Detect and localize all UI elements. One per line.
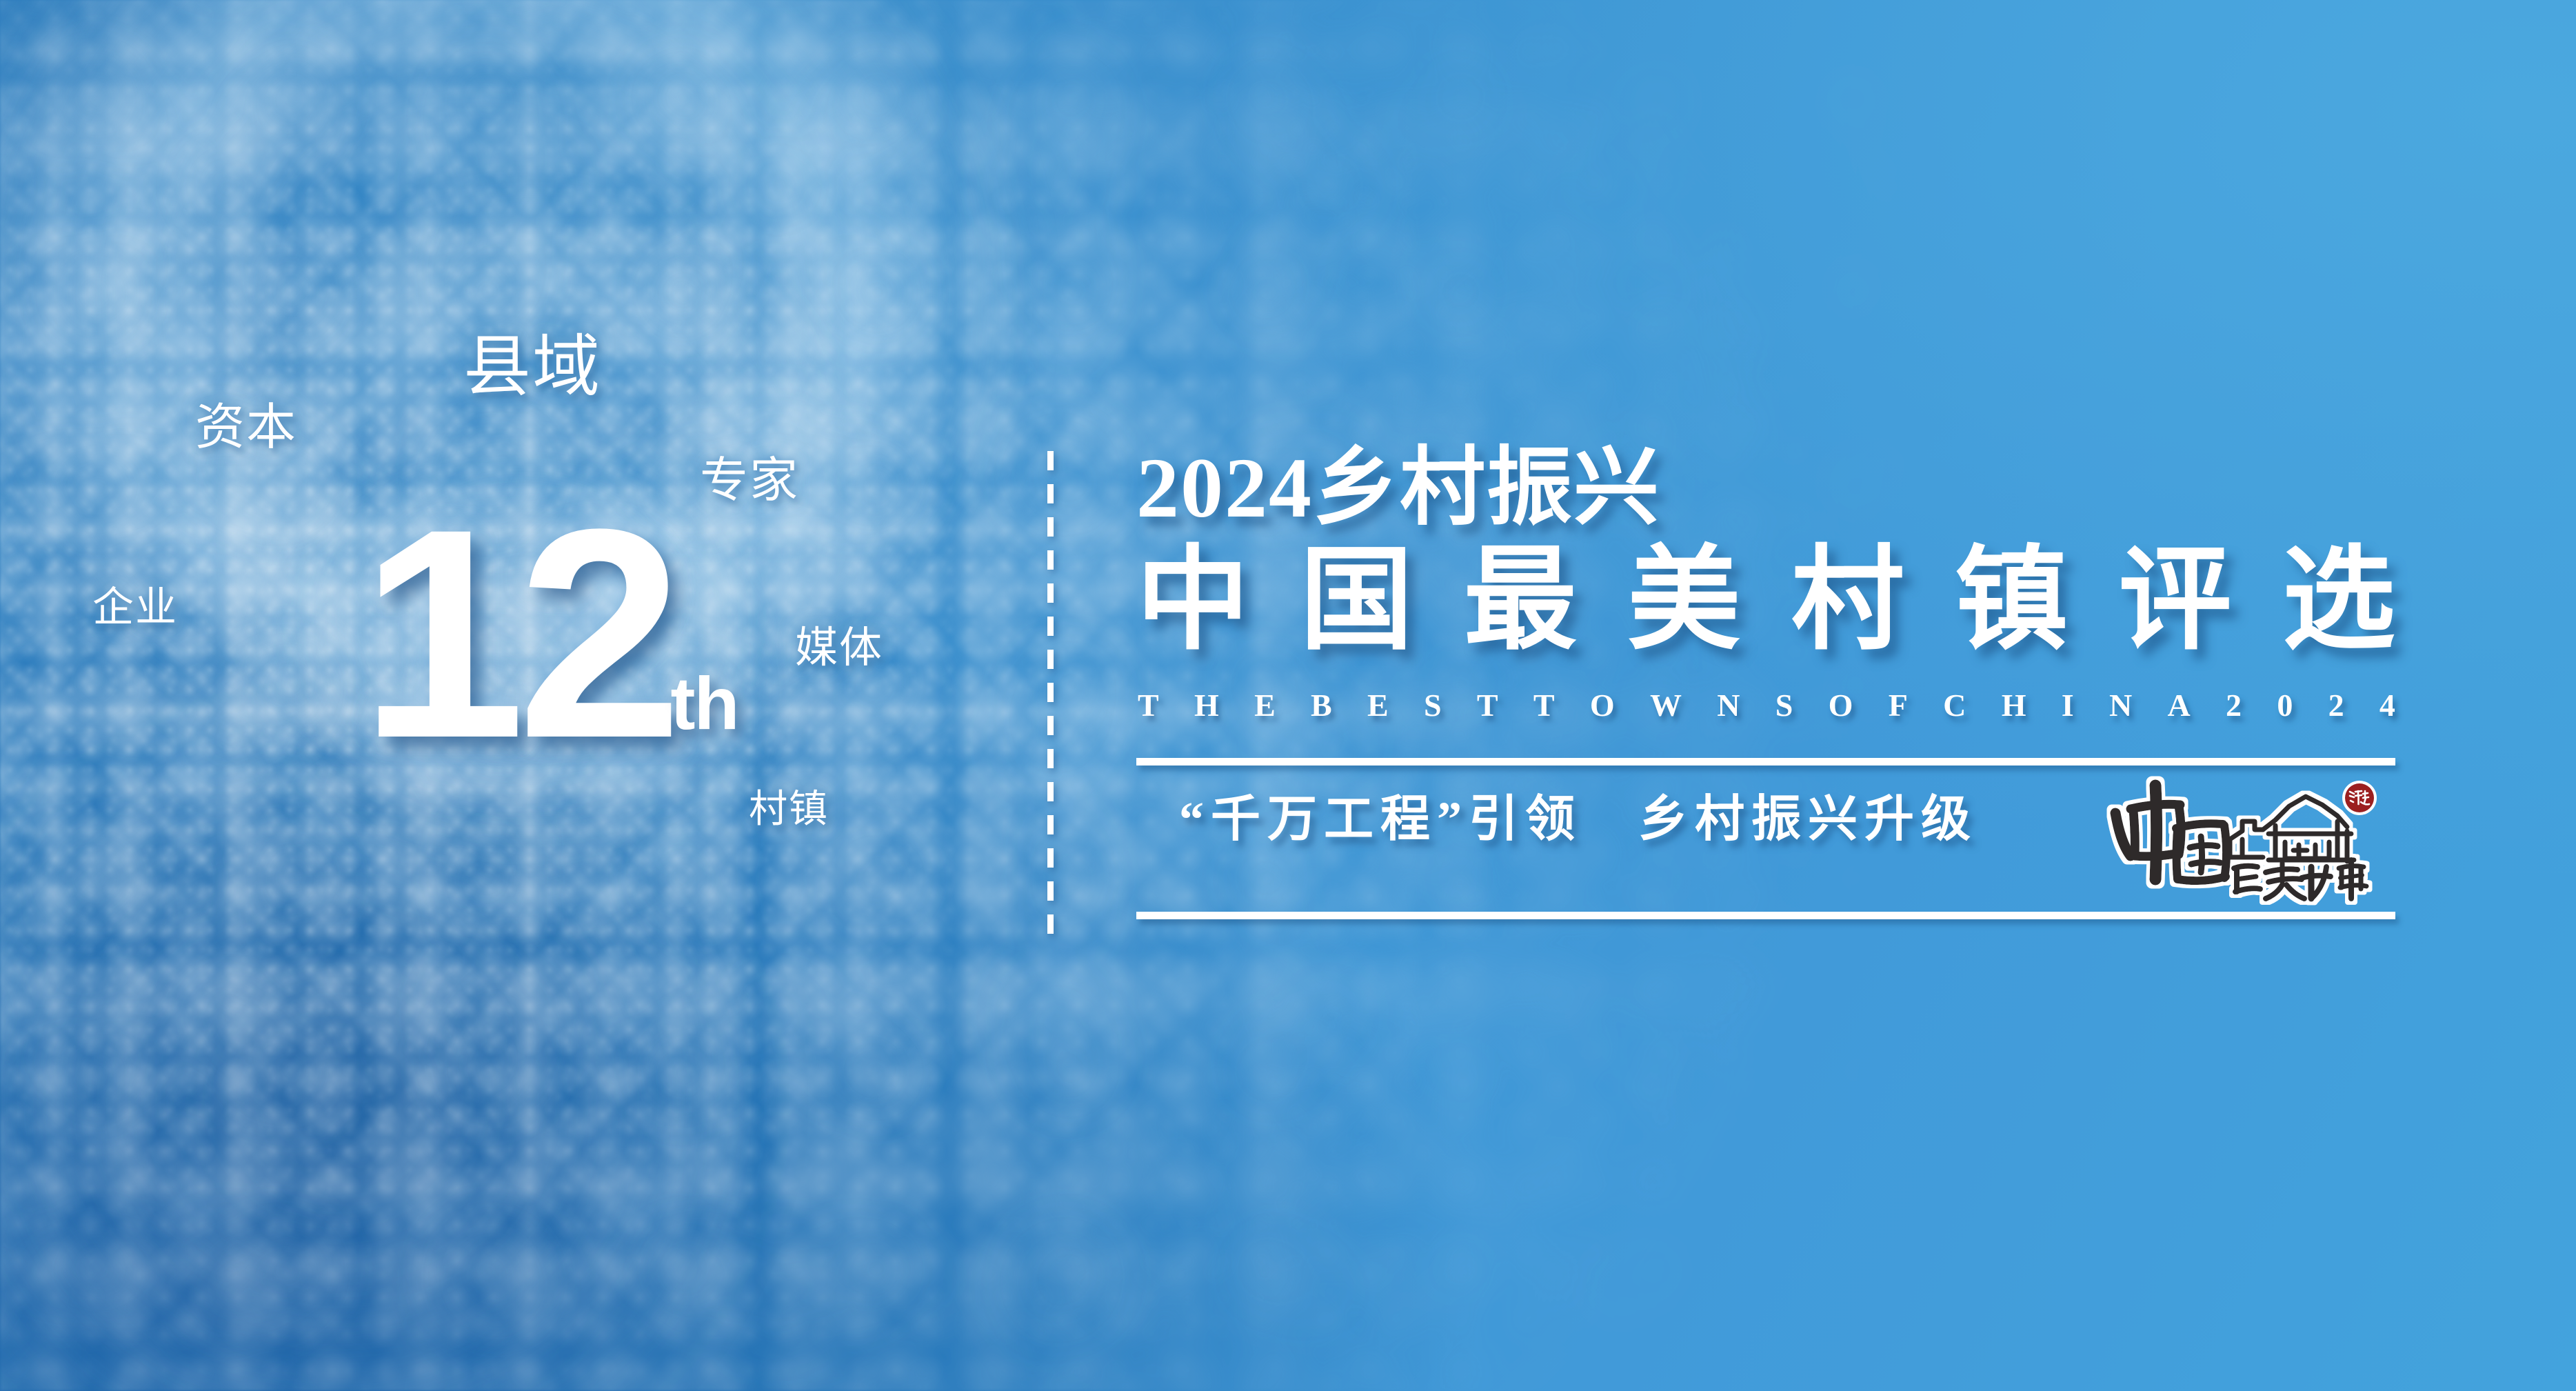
title-english: T H E B E S T T O W N S O F C H I N A 2 … <box>1138 690 2395 721</box>
title-char: 中 <box>1136 545 1249 658</box>
keyword-capital: 资本 <box>195 386 297 459</box>
title-en-letter: C <box>1943 690 1966 721</box>
title-main: 中 国 最 美 村 镇 评 选 <box>1136 545 2395 658</box>
title-char: 村 <box>1791 545 1904 658</box>
title-en-letter: 0 <box>2277 690 2293 721</box>
title-char: 美 <box>1627 545 1740 658</box>
keyword-village-town: 村镇 <box>749 778 829 834</box>
title-en-letter: T <box>1477 690 1498 721</box>
title-en-letter: S <box>1424 690 1442 721</box>
title-en-letter: O <box>1590 690 1615 721</box>
logo-subtitle-zuimeicunzhen <box>2234 860 2366 899</box>
tagline: “千万工程”引领 乡村振兴升级 <box>1179 794 1978 844</box>
title-en-letter: I <box>2062 690 2074 721</box>
rule-top <box>1136 758 2395 765</box>
title-en-letter: E <box>1254 690 1276 721</box>
title-year: 2024乡村振兴 <box>1136 446 1660 531</box>
title-en-letter: H <box>1194 690 1219 721</box>
title-char: 镇 <box>1955 545 2068 658</box>
logo-village-illustration <box>2230 797 2354 861</box>
right-panel: 2024乡村振兴 中 国 最 美 村 镇 评 选 T H E B E S T T… <box>1136 0 2405 1391</box>
logo-char-zhong <box>2115 785 2181 879</box>
title-en-letter: 2 <box>2328 690 2344 721</box>
title-en-letter: F <box>1889 690 1908 721</box>
anniversary-ordinal: th <box>671 666 738 756</box>
keyword-expert: 专家 <box>700 441 799 511</box>
title-en-letter: A <box>2168 690 2191 721</box>
keyword-county: 县域 <box>463 312 601 410</box>
title-char: 最 <box>1464 545 1577 658</box>
title-char: 评 <box>2119 545 2232 658</box>
title-en-letter: N <box>2109 690 2132 721</box>
anniversary-badge: 12 th <box>360 512 738 756</box>
left-panel: 县域 资本 企业 专家 媒体 村镇 12 th <box>0 0 1048 1391</box>
title-char: 国 <box>1300 545 1413 658</box>
rule-bottom <box>1136 912 2395 919</box>
banner-poster: 县域 资本 企业 专家 媒体 村镇 12 th 2024乡村振兴 中 国 最 美… <box>0 0 2576 1391</box>
vertical-dashed-divider <box>1047 451 1054 935</box>
title-en-letter: B <box>1311 690 1332 721</box>
title-char: 选 <box>2282 545 2395 658</box>
title-en-letter: N <box>1717 690 1740 721</box>
title-en-letter: 4 <box>2379 690 2395 721</box>
brand-logo <box>2095 770 2384 905</box>
title-en-letter: O <box>1829 690 1853 721</box>
anniversary-number: 12 <box>360 512 675 756</box>
title-en-letter: E <box>1367 690 1389 721</box>
keyword-enterprise: 企业 <box>92 574 178 634</box>
title-en-letter: 2 <box>2226 690 2242 721</box>
title-en-letter: T <box>1138 690 1159 721</box>
keyword-media: 媒体 <box>795 612 883 674</box>
title-en-letter: T <box>1533 690 1555 721</box>
title-en-letter: W <box>1650 690 1682 721</box>
logo-seal <box>2342 781 2377 815</box>
title-en-letter: H <box>2002 690 2026 721</box>
title-en-letter: S <box>1775 690 1793 721</box>
